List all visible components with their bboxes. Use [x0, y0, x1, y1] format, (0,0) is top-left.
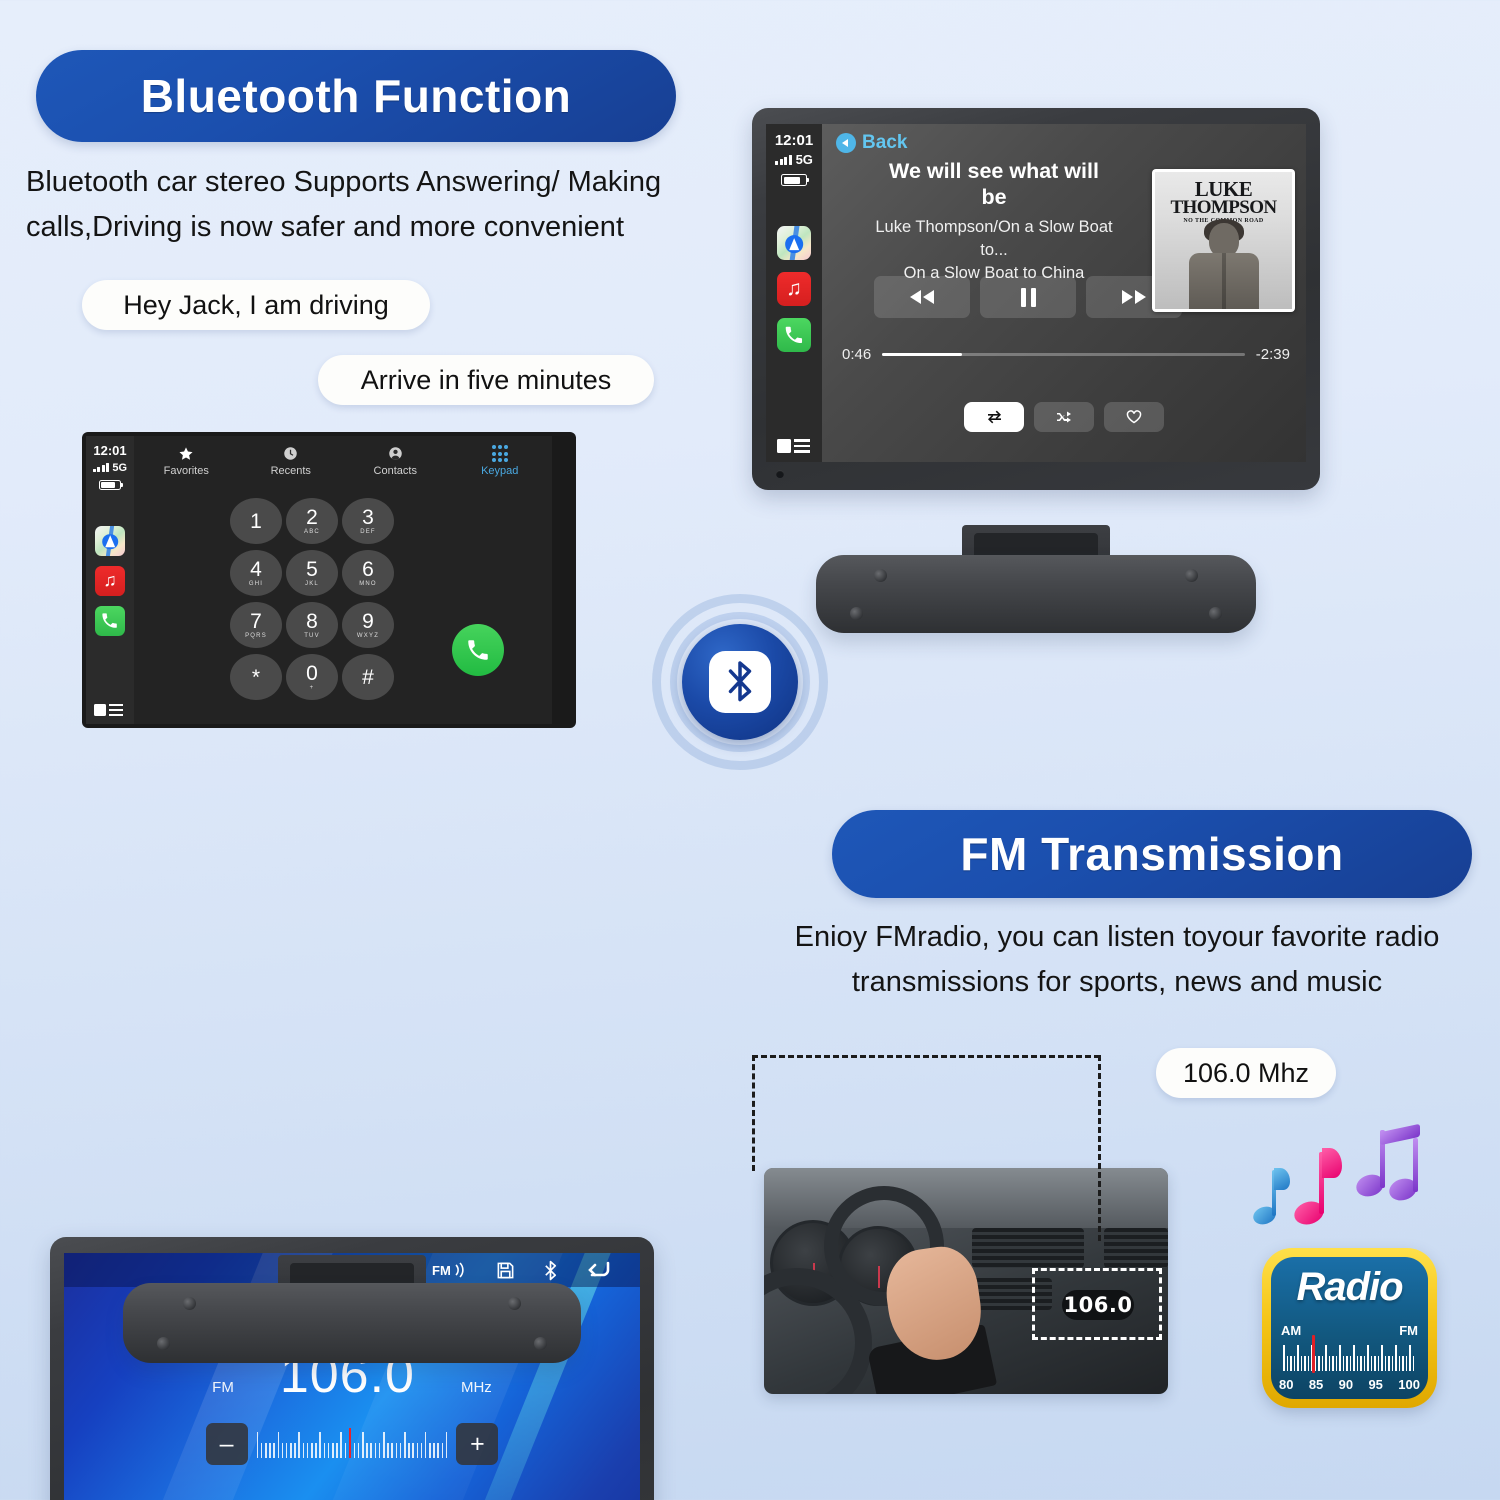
carplay-app-list: ♫: [777, 226, 811, 352]
tuning-tick: [286, 1443, 288, 1458]
bluetooth-section-header: Bluetooth Function: [36, 50, 676, 142]
radio-num-95: 95: [1368, 1377, 1382, 1392]
keypad-status-time: 12:01: [93, 444, 126, 459]
carplay-keypad-screen[interactable]: 12:01 5G ♫ Favorites: [86, 436, 552, 724]
tuning-tick: [332, 1443, 334, 1458]
radio-num-80: 80: [1279, 1377, 1293, 1392]
carplay-keypad-device: 12:01 5G ♫ Favorites: [82, 432, 576, 728]
tuning-tick: [446, 1432, 448, 1458]
speech-bubble-arrive-text: Arrive in five minutes: [361, 365, 612, 396]
album-art-line2: THOMPSON: [1155, 199, 1292, 216]
tuning-tick: [412, 1443, 414, 1458]
music-player-main: Back We will see what will be Luke Thomp…: [822, 124, 1306, 462]
keypad-key-letters: GHI: [249, 581, 263, 587]
svg-text:FM: FM: [432, 1263, 451, 1278]
tab-recents-label: Recents: [271, 465, 311, 477]
fm-unit-label: MHz: [461, 1379, 492, 1396]
leader-line-right: [1098, 1055, 1101, 1241]
bluetooth-description-line2: calls,Driving is now safer and more conv…: [26, 205, 746, 250]
keypad-key-5[interactable]: 5JKL: [286, 550, 338, 596]
keypad-key-digit: *: [252, 667, 260, 688]
radio-tick: [1392, 1356, 1394, 1371]
keypad-app-list: ♫: [95, 526, 125, 636]
tuning-tick: [294, 1443, 296, 1458]
radio-tick: [1332, 1356, 1334, 1371]
progress-bar[interactable]: [882, 353, 1245, 357]
radio-tick: [1385, 1356, 1387, 1371]
keypad-key-letters: WXYZ: [357, 633, 379, 639]
tuning-tick: [387, 1443, 389, 1458]
tuning-tick: [349, 1428, 351, 1458]
tuning-tick: [282, 1443, 284, 1458]
previous-track-button[interactable]: [874, 276, 970, 318]
keypad-key-1[interactable]: 1: [230, 498, 282, 544]
bluetooth-icon: [709, 651, 772, 714]
music-note-purple-icon: [1356, 1128, 1422, 1200]
call-button[interactable]: [452, 624, 504, 676]
radio-tick: [1402, 1356, 1404, 1371]
tune-down-button[interactable]: –: [206, 1423, 248, 1465]
keypad-key-digit: 5: [306, 559, 318, 580]
tab-favorites-label: Favorites: [164, 465, 209, 477]
radio-am-label: AM: [1281, 1323, 1301, 1338]
fm-description: Enioy FMradio, you can listen toyour fav…: [760, 915, 1474, 1005]
keypad-icon: [492, 445, 508, 462]
clock-icon: [283, 445, 298, 462]
elapsed-time: 0:46: [842, 346, 871, 363]
carplay-music-monitor: 12:01 5G ♫ Bac: [752, 108, 1320, 490]
tuning-tick: [442, 1443, 444, 1458]
keypad-key-3[interactable]: 3DEF: [342, 498, 394, 544]
leader-line-horizontal: [752, 1055, 1100, 1058]
radio-highlight-box: [1032, 1268, 1162, 1340]
fm-description-line1: Enioy FMradio, you can listen toyour fav…: [760, 915, 1474, 960]
netease-music-icon[interactable]: ♫: [95, 566, 125, 596]
battery-icon: [99, 480, 121, 490]
album-art-figure: [1187, 223, 1261, 309]
radio-app-icon: Radio AM FM 80 85 90 95 100: [1262, 1248, 1437, 1408]
tuning-tick: [265, 1443, 267, 1458]
tuning-tick: [345, 1443, 347, 1458]
carplay-music-screen[interactable]: 12:01 5G ♫ Bac: [766, 124, 1306, 462]
album-art: LUKE THOMPSON NO THE COMMON ROAD: [1152, 169, 1295, 312]
tuning-tick: [273, 1443, 275, 1458]
tab-recents[interactable]: Recents: [239, 436, 344, 486]
battery-icon: [781, 174, 807, 186]
fm-frequency-badge: 106.0 Mhz: [1156, 1048, 1336, 1098]
track-artist: Luke Thompson/On a Slow Boat to...: [864, 216, 1124, 262]
heart-icon[interactable]: [1104, 402, 1164, 432]
album-art-title: LUKE THOMPSON NO THE COMMON ROAD: [1155, 180, 1292, 224]
signal-bars-icon: [775, 155, 792, 165]
keypad-key-letters: JKL: [305, 581, 319, 587]
radio-tick: [1325, 1345, 1327, 1371]
fm-header-text: FM Transmission: [960, 827, 1343, 881]
keypad-key-letters: TUV: [304, 633, 320, 639]
bluetooth-badge: [652, 594, 828, 770]
keypad-key-digit: 2: [306, 507, 318, 528]
tuning-tick: [269, 1443, 271, 1458]
radio-tick: [1346, 1356, 1348, 1371]
bluetooth-description-line1: Bluetooth car stereo Supports Answering/…: [26, 160, 746, 205]
track-meta: Luke Thompson/On a Slow Boat to... On a …: [864, 216, 1124, 284]
remaining-time: -2:39: [1256, 346, 1290, 363]
keypad-key-4[interactable]: 4GHI: [230, 550, 282, 596]
tuning-tick: [396, 1443, 398, 1458]
maps-icon[interactable]: [777, 226, 811, 260]
tuning-tick: [315, 1443, 317, 1458]
keypad-key-star[interactable]: *: [230, 654, 282, 700]
netease-music-icon[interactable]: ♫: [777, 272, 811, 306]
keypad-sidebar: 12:01 5G ♫: [86, 436, 134, 724]
radio-tick: [1322, 1356, 1324, 1371]
tuning-tick: [391, 1443, 393, 1458]
tuning-tick: [303, 1443, 305, 1458]
tuning-tick: [311, 1443, 313, 1458]
playback-mode-controls: [822, 402, 1306, 432]
radio-tick: [1350, 1356, 1352, 1371]
radio-tick: [1357, 1356, 1359, 1371]
keypad-key-letters: +: [310, 685, 315, 691]
radio-tick: [1395, 1345, 1397, 1371]
tuning-tick: [421, 1443, 423, 1458]
home-button-icon[interactable]: [94, 704, 123, 716]
keypad-key-digit: 1: [250, 511, 262, 532]
back-chevron-icon: [836, 133, 856, 153]
radio-num-90: 90: [1339, 1377, 1353, 1392]
radio-tick: [1353, 1345, 1355, 1371]
keypad-key-digit: #: [362, 667, 374, 688]
album-art-image: LUKE THOMPSON NO THE COMMON ROAD: [1155, 172, 1292, 309]
radio-tick: [1283, 1345, 1285, 1371]
radio-scale-numbers: 80 85 90 95 100: [1279, 1377, 1420, 1392]
tuning-tick: [417, 1443, 419, 1458]
speech-bubble-driving: Hey Jack, I am driving: [82, 280, 430, 330]
phone-tabs: Favorites Recents Contacts Keypad: [134, 436, 552, 486]
radio-tick: [1371, 1356, 1373, 1371]
progress-row: 0:46 -2:39: [842, 346, 1290, 363]
radio-tick: [1294, 1356, 1296, 1371]
tuning-tick: [404, 1432, 406, 1458]
keypad-key-9[interactable]: 9WXYZ: [342, 602, 394, 648]
keypad-key-0[interactable]: 0+: [286, 654, 338, 700]
leader-line-left: [752, 1055, 755, 1171]
keypad-key-6[interactable]: 6MNO: [342, 550, 394, 596]
radio-tick: [1381, 1345, 1383, 1371]
radio-tick: [1297, 1345, 1299, 1371]
keypad-key-digit: 9: [362, 611, 374, 632]
phone-icon[interactable]: [95, 606, 125, 636]
radio-tick: [1409, 1345, 1411, 1371]
back-label: Back: [862, 132, 907, 154]
back-button[interactable]: Back: [836, 132, 907, 154]
monitor-base-bottom: [123, 1283, 581, 1363]
keypad-key-digit: 8: [306, 611, 318, 632]
status-signal: 5G: [775, 152, 813, 167]
bluetooth-header-text: Bluetooth Function: [141, 69, 572, 123]
radio-num-85: 85: [1309, 1377, 1323, 1392]
shuffle-icon[interactable]: [1034, 402, 1094, 432]
keypad-key-letters: DEF: [360, 529, 376, 535]
fm-tuner: – +: [64, 1423, 640, 1465]
radio-app-title: Radio: [1271, 1265, 1428, 1310]
home-button-icon[interactable]: [777, 439, 810, 453]
tab-keypad[interactable]: Keypad: [448, 436, 553, 486]
tuning-tick: [307, 1443, 309, 1458]
keypad-key-digit: 7: [250, 611, 262, 632]
status-time: 12:01: [775, 132, 813, 149]
tuning-tick: [261, 1443, 263, 1458]
dial-keypad[interactable]: 12ABC3DEF4GHI5JKL6MNO7PQRS8TUV9WXYZ*0+#: [230, 498, 394, 700]
tuning-tick: [370, 1443, 372, 1458]
keypad-status-signal: 5G: [93, 462, 127, 474]
save-icon[interactable]: [496, 1259, 515, 1281]
keypad-key-letters: PQRS: [245, 633, 267, 639]
phone-icon[interactable]: [777, 318, 811, 352]
tab-keypad-label: Keypad: [481, 465, 518, 477]
tab-favorites[interactable]: Favorites: [134, 436, 239, 486]
radio-tick: [1413, 1356, 1415, 1371]
fm-description-line2: transmissions for sports, news and music: [760, 960, 1474, 1005]
tuning-tick: [328, 1443, 330, 1458]
tune-up-button[interactable]: +: [456, 1423, 498, 1465]
tuning-tick: [379, 1443, 381, 1458]
tuning-tick: [358, 1443, 360, 1458]
play-pause-button[interactable]: [980, 276, 1076, 318]
keypad-key-8[interactable]: 8TUV: [286, 602, 338, 648]
fm-frequency-badge-text: 106.0 Mhz: [1183, 1058, 1309, 1089]
car-dashboard-photo: 106.0: [764, 1168, 1168, 1394]
radio-tick: [1290, 1356, 1292, 1371]
tuning-tick: [366, 1443, 368, 1458]
bluetooth-icon[interactable]: [543, 1259, 558, 1281]
radio-tick: [1343, 1356, 1345, 1371]
fm-section-header: FM Transmission: [832, 810, 1472, 898]
tab-contacts[interactable]: Contacts: [343, 436, 448, 486]
tuning-tick: [408, 1443, 410, 1458]
monitor-base-top: [816, 555, 1256, 633]
tuning-tick: [375, 1443, 377, 1458]
tuning-tick: [324, 1443, 326, 1458]
radio-tick: [1329, 1356, 1331, 1371]
signal-bars-icon: [93, 463, 110, 472]
fm-band-label: FM: [212, 1379, 234, 1396]
tuning-tick: [290, 1443, 292, 1458]
keypad-main: Favorites Recents Contacts Keypad 12ABC3…: [134, 436, 552, 724]
tuning-tick: [354, 1443, 356, 1458]
keypad-key-digit: 4: [250, 559, 262, 580]
keypad-key-digit: 0: [306, 663, 318, 684]
maps-icon[interactable]: [95, 526, 125, 556]
radio-tick: [1378, 1356, 1380, 1371]
star-icon: [178, 445, 194, 462]
radio-tick: [1304, 1356, 1306, 1371]
radio-tick: [1360, 1356, 1362, 1371]
fm-tuning-scale[interactable]: [257, 1430, 448, 1458]
person-icon: [388, 445, 403, 462]
tuning-tick: [278, 1432, 280, 1458]
radio-tick: [1308, 1356, 1310, 1371]
tuning-tick: [257, 1432, 259, 1458]
speech-bubble-driving-text: Hey Jack, I am driving: [123, 290, 389, 321]
tuning-tick: [433, 1443, 435, 1458]
tuning-tick: [362, 1432, 364, 1458]
speech-bubble-arrive: Arrive in five minutes: [318, 355, 654, 405]
carplay-sidebar: 12:01 5G ♫: [766, 124, 822, 462]
radio-dial-scale: [1283, 1343, 1416, 1371]
transport-controls: [874, 276, 1182, 318]
radio-tick: [1374, 1356, 1376, 1371]
tuning-tick: [429, 1443, 431, 1458]
tuning-tick: [298, 1432, 300, 1458]
tuning-tick: [437, 1443, 439, 1458]
keypad-key-hash[interactable]: #: [342, 654, 394, 700]
track-title: We will see what will be: [882, 158, 1106, 210]
radio-tick: [1336, 1356, 1338, 1371]
tuning-tick: [319, 1432, 321, 1458]
tuning-tick: [340, 1432, 342, 1458]
radio-tick: [1339, 1345, 1341, 1371]
music-note-blue-icon: [1253, 1168, 1287, 1224]
fm-broadcast-icon[interactable]: FM: [432, 1259, 468, 1281]
radio-tick: [1287, 1356, 1289, 1371]
radio-tick: [1388, 1356, 1390, 1371]
tuning-tick: [400, 1443, 402, 1458]
keypad-key-2[interactable]: 2ABC: [286, 498, 338, 544]
keypad-status-network: 5G: [112, 462, 127, 474]
radio-tick: [1318, 1356, 1320, 1371]
radio-tick: [1399, 1356, 1401, 1371]
ambient-sensor: [776, 470, 784, 478]
tune-down-label: –: [220, 1432, 234, 1457]
keypad-key-digit: 6: [362, 559, 374, 580]
radio-fm-label: FM: [1399, 1323, 1418, 1338]
bluetooth-description: Bluetooth car stereo Supports Answering/…: [26, 160, 746, 250]
radio-tick: [1406, 1356, 1408, 1371]
radio-tick: [1367, 1345, 1369, 1371]
tune-up-label: +: [470, 1432, 485, 1457]
radio-tick: [1364, 1356, 1366, 1371]
tuning-tick: [336, 1443, 338, 1458]
repeat-icon[interactable]: [964, 402, 1024, 432]
tab-contacts-label: Contacts: [374, 465, 417, 477]
radio-num-100: 100: [1398, 1377, 1420, 1392]
tuning-tick: [425, 1432, 427, 1458]
radio-needle: [1312, 1335, 1315, 1373]
keypad-key-7[interactable]: 7PQRS: [230, 602, 282, 648]
keypad-key-digit: 3: [362, 507, 374, 528]
radio-tick: [1301, 1356, 1303, 1371]
tuning-tick: [383, 1432, 385, 1458]
keypad-key-letters: MNO: [359, 581, 377, 587]
music-note-pink-icon: [1294, 1148, 1340, 1224]
back-icon[interactable]: [586, 1259, 612, 1281]
status-network: 5G: [796, 152, 813, 167]
keypad-key-letters: ABC: [304, 529, 320, 535]
